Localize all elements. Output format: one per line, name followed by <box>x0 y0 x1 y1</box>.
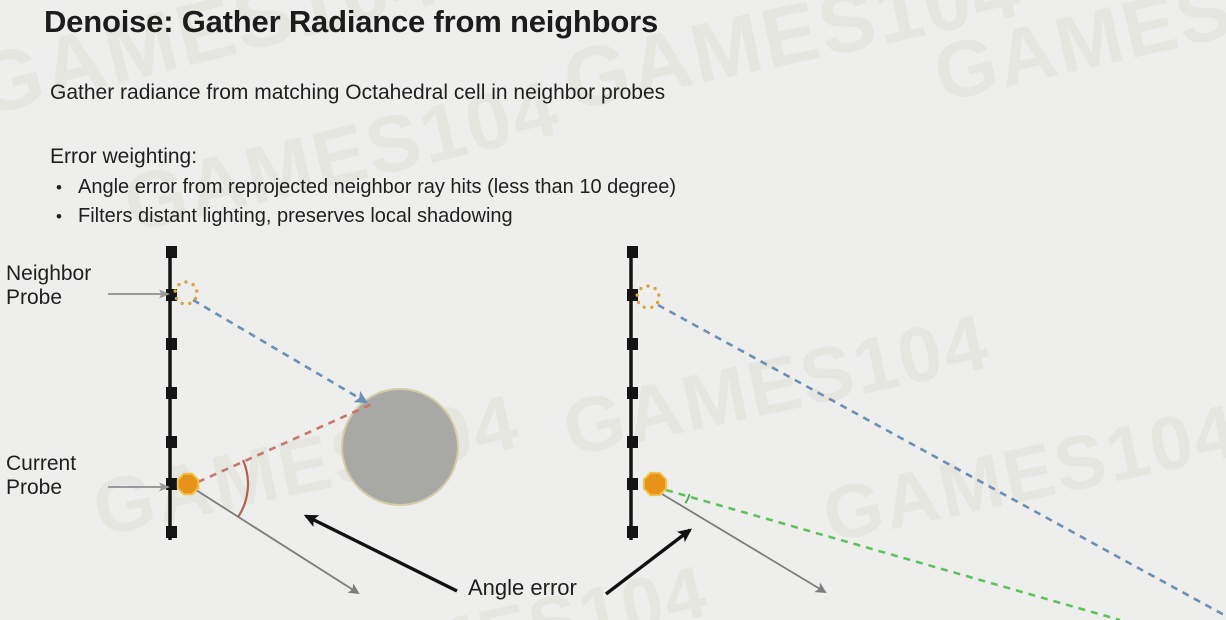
current-ray <box>662 494 825 592</box>
wall-tick-marker <box>627 436 638 448</box>
neighbor-probe-dot <box>653 287 656 290</box>
reprojected-ray <box>666 490 1120 620</box>
neighbor-probe-dot <box>174 289 177 292</box>
neighbor-probe-dot <box>646 284 649 287</box>
neighbor-probe-dot <box>643 306 646 309</box>
wall-tick-marker <box>627 246 638 258</box>
wall-tick-marker <box>166 338 177 350</box>
wall-tick-marker <box>166 387 177 399</box>
wall-tick-marker <box>166 526 177 538</box>
neighbor-ray <box>193 300 366 402</box>
wall-tick-marker <box>627 338 638 350</box>
wall-tick-marker <box>627 526 638 538</box>
angle-error-arc <box>239 460 248 516</box>
neighbor-probe-dot <box>184 280 187 283</box>
neighbor-probe-dot <box>191 283 194 286</box>
neighbor-probe-dot <box>650 306 653 309</box>
neighbor-probe-dot <box>639 287 642 290</box>
current-probe-marker <box>178 474 198 494</box>
neighbor-probe-dot <box>637 301 640 304</box>
neighbor-probe-dot <box>636 293 639 296</box>
neighbor-probe-dot <box>657 293 660 296</box>
wall-tick-marker <box>166 478 177 490</box>
neighbor-probe-dot <box>175 297 178 300</box>
wall-tick-marker <box>166 436 177 448</box>
angle-error-callout-left <box>306 516 457 591</box>
left-panel <box>166 246 459 593</box>
angle-error-arc <box>685 494 689 503</box>
neighbor-probe-marker <box>636 284 661 309</box>
current-ray <box>196 490 358 593</box>
current-probe-marker <box>644 473 666 495</box>
neighbor-probe-dot <box>177 283 180 286</box>
right-panel <box>627 246 1226 620</box>
neighbor-probe-dot <box>194 297 197 300</box>
wall-tick-marker <box>627 478 638 490</box>
neighbor-probe-dot <box>195 289 198 292</box>
occluder-sphere <box>343 390 457 504</box>
wall-tick-marker <box>627 387 638 399</box>
neighbor-probe-dot <box>656 301 659 304</box>
neighbor-probe-dot <box>181 302 184 305</box>
angle-error-callout-right <box>606 530 690 594</box>
neighbor-probe-dot <box>188 302 191 305</box>
wall-tick-marker <box>166 246 177 258</box>
slide-canvas: GAMES104GAMES104GAMES104GAMES104GAMES104… <box>0 0 1226 620</box>
probe-diagram <box>0 0 1226 620</box>
